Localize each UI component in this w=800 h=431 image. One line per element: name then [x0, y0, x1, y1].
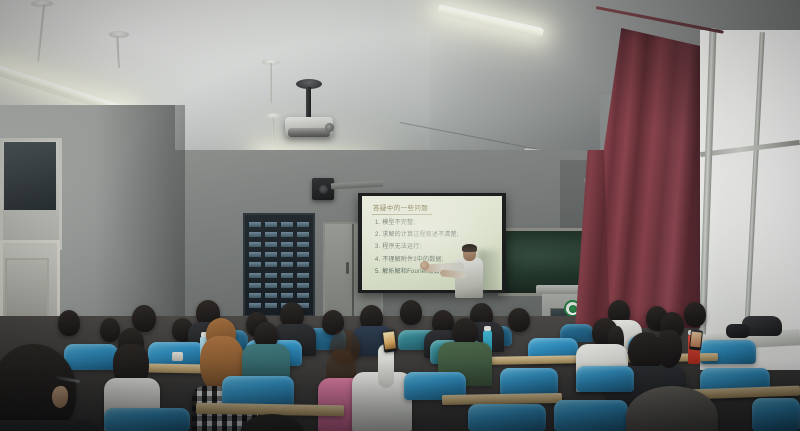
wall-speaker-left-cone [319, 185, 328, 194]
audience-head [58, 310, 80, 336]
left-window-glass [4, 142, 56, 210]
cup-white [172, 352, 183, 361]
seat[interactable] [64, 344, 118, 370]
lecture-hall-photo: 答疑中的一些问题 1. 模型不完整; 2. 求解的计算过程叙述不清楚; 3. 程… [0, 0, 800, 431]
audience-head [400, 300, 422, 325]
audience-torso [242, 344, 290, 380]
seat[interactable] [554, 400, 628, 431]
notice-row [245, 242, 313, 247]
cabinet-handle[interactable] [346, 262, 349, 274]
notice-row [245, 303, 313, 308]
bottle-cap [484, 326, 491, 331]
curtain-fold-shadow [604, 28, 700, 328]
seat[interactable] [500, 368, 558, 396]
audience-head [684, 302, 706, 327]
smartphone-screen [383, 331, 396, 349]
seat[interactable] [752, 398, 800, 431]
notice-row [245, 222, 313, 227]
notice-row [245, 293, 313, 298]
bag-on-sill-secondary [726, 324, 750, 338]
ceiling-rod-3 [270, 63, 272, 103]
ceiling-rod-cap-2 [109, 31, 129, 38]
notice-row [245, 273, 313, 278]
projector-body-shadow [288, 128, 330, 137]
notice-row [245, 252, 313, 257]
projector-pole [306, 87, 311, 119]
emblem-inner [569, 305, 577, 313]
notice-row [245, 283, 313, 288]
audience-head [132, 305, 156, 332]
audience-head [100, 318, 120, 342]
seat[interactable] [104, 408, 190, 431]
audience-head [508, 308, 530, 332]
projector-lens [325, 123, 334, 132]
ceiling-rod-4 [272, 117, 274, 147]
presenter-hand [420, 261, 429, 270]
notice-row [245, 232, 313, 237]
smartphone-secondary-screen [690, 332, 702, 348]
seat[interactable] [576, 366, 634, 392]
notice-row [245, 262, 313, 267]
cabinet-door-split [352, 224, 354, 320]
foreground-ear [52, 386, 68, 408]
foreground-torso-left [0, 420, 100, 431]
audience-ponytail [656, 330, 682, 368]
seat[interactable] [468, 404, 546, 431]
notice-board [243, 213, 315, 317]
presenter-hair [462, 244, 477, 252]
